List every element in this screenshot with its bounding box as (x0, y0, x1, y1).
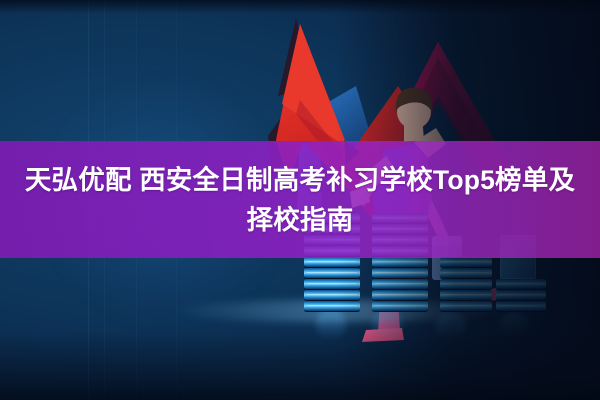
banner-title: 天弘优配 西安全日制高考补习学校Top5榜单及择校指南 (0, 160, 600, 240)
title-band: 天弘优配 西安全日制高考补习学校Top5榜单及择校指南 (0, 141, 600, 258)
background-top-fade (0, 0, 600, 14)
background-bottom-fade (0, 330, 600, 400)
banner-image: 天弘优配 西安全日制高考补习学校Top5榜单及择校指南 (0, 0, 600, 400)
